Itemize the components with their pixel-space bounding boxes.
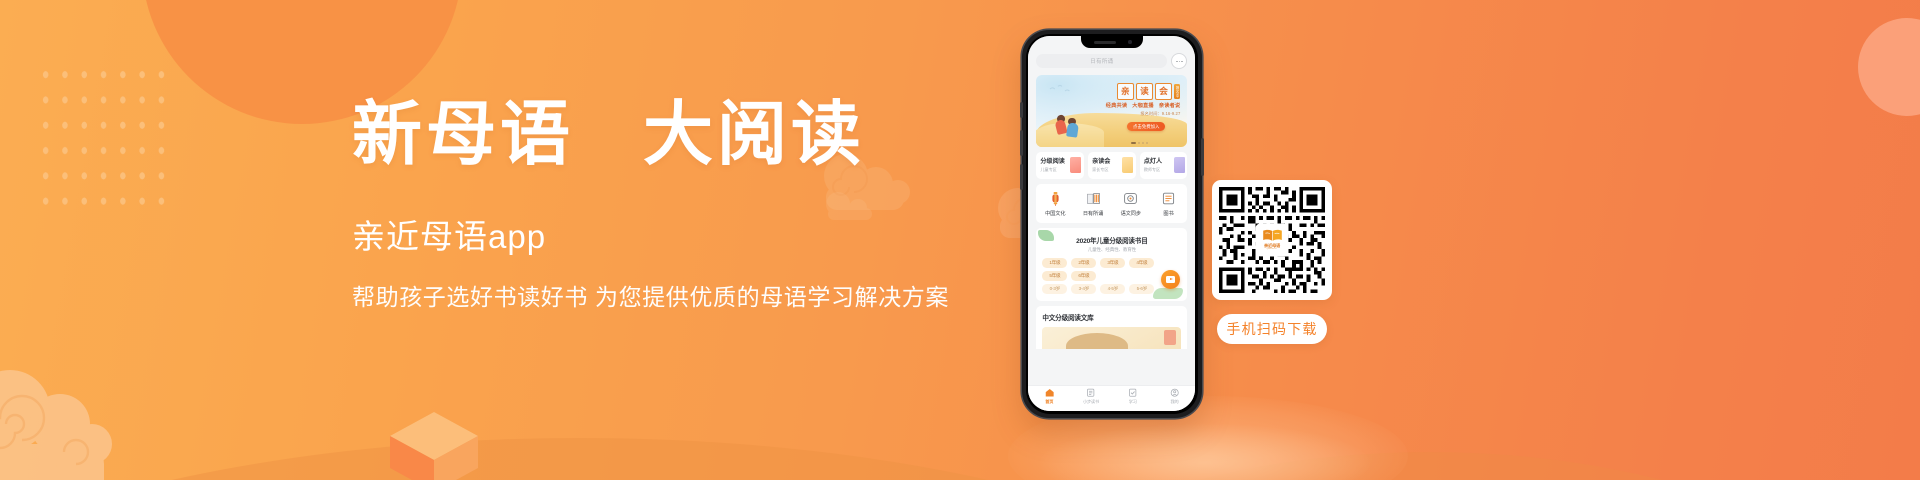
booklist-subtitle: 儿童性、经典性、教育性 <box>1042 247 1181 253</box>
phone-bezel: 日有所诵 <box>1026 34 1198 414</box>
tab-label: 我的 <box>1171 399 1179 405</box>
hero-feature-3: 亲读者说 <box>1159 102 1181 109</box>
leaf-decor-icon <box>1038 230 1054 241</box>
quick-link-chinese-culture[interactable]: 中国文化 <box>1036 191 1074 216</box>
speaker-grille <box>1094 41 1116 44</box>
decor-phone-glow-inner <box>1040 424 1370 480</box>
decor-hill-arc <box>0 438 1380 480</box>
tagline: 帮助孩子选好书读好书 为您提供优质的母语学习解决方案 <box>352 282 1032 312</box>
book-lines-icon <box>1161 191 1176 206</box>
camera-square-icon <box>1123 191 1138 206</box>
hero-join-button[interactable]: 点击免费加入 <box>1127 122 1165 131</box>
hero-carousel-banner[interactable]: 亲 读 会 报名中 经典共读 大咖直播 亲读者说 报名时间：9.16-9.27 … <box>1036 75 1187 147</box>
tab-reading[interactable]: 小步读书 <box>1070 388 1112 405</box>
hero-signup-date: 报名时间：9.16-9.27 <box>1140 111 1180 117</box>
qr-logo-title: 亲近母语 <box>1264 243 1280 248</box>
grade-tag[interactable]: 4年级 <box>1129 258 1154 268</box>
grade-tag[interactable]: 5年级 <box>1042 271 1067 281</box>
grade-tag[interactable]: 6年级 <box>1071 271 1096 281</box>
app-name-subtitle: 亲近母语app <box>352 218 1032 256</box>
quick-link-label: 语文同步 <box>1121 210 1141 217</box>
qr-card[interactable]: 亲近母语 QINJIN MUYU <box>1212 180 1332 300</box>
profile-icon <box>1170 388 1179 397</box>
book-tab-icon <box>1086 388 1095 397</box>
hero-features: 经典共读 大咖直播 亲读者说 <box>1106 102 1181 109</box>
library-section[interactable]: 中文分级阅读文库 <box>1036 306 1187 349</box>
booklist-title: 2020年儿童分级阅读书目 <box>1042 235 1181 245</box>
phone-power-button <box>1201 138 1203 176</box>
tab-label: 首页 <box>1045 399 1053 405</box>
age-tag[interactable]: 0-3岁 <box>1042 284 1067 294</box>
entry-card-teacher-zone[interactable]: 点灯人 教师专区 <box>1140 152 1188 179</box>
hero-char-3: 会 <box>1155 83 1172 100</box>
phone-screen: 日有所诵 <box>1028 36 1195 411</box>
phone-mockup: 日有所诵 <box>1022 30 1202 418</box>
open-book-logo-icon <box>1262 229 1283 242</box>
qr-download-block: 亲近母语 QINJIN MUYU 手机扫码下载 <box>1212 180 1332 344</box>
decor-hill-arc-secondary <box>880 452 1920 480</box>
carousel-dot-4[interactable] <box>1146 142 1148 144</box>
home-icon <box>1045 388 1054 397</box>
hero-char-2: 读 <box>1136 83 1153 100</box>
hero-vertical-badge: 报名中 <box>1174 84 1180 99</box>
quick-link-books[interactable]: 图书 <box>1150 191 1188 216</box>
decor-isometric-cube-icon <box>388 410 480 480</box>
entry-card-parent-club[interactable]: 亲读会 家长专区 <box>1088 152 1136 179</box>
title-part-2: 大阅读 <box>643 97 865 174</box>
qr-logo-subtitle: QINJIN MUYU <box>1267 248 1277 250</box>
library-page-decor <box>1164 330 1176 345</box>
app-viewport: 日有所诵 <box>1028 36 1195 411</box>
grade-tag[interactable]: 3年级 <box>1100 258 1125 268</box>
search-input[interactable]: 日有所诵 <box>1036 54 1167 68</box>
decor-circle-right <box>1858 18 1920 116</box>
library-cover-card[interactable] <box>1042 327 1181 349</box>
search-placeholder: 日有所诵 <box>1090 57 1113 65</box>
hero-title: 亲 读 会 报名中 <box>1117 83 1180 100</box>
hero-char-1: 亲 <box>1117 83 1134 100</box>
tab-profile[interactable]: 我的 <box>1154 388 1196 405</box>
grade-tag[interactable]: 1年级 <box>1042 258 1067 268</box>
scan-to-download-button[interactable]: 手机扫码下载 <box>1217 314 1327 344</box>
quick-link-label: 中国文化 <box>1045 210 1065 217</box>
tab-home[interactable]: 首页 <box>1028 388 1070 405</box>
promo-banner: 新母语 大阅读 亲近母语app 帮助孩子选好书读好书 为您提供优质的母语学习解决… <box>0 0 1920 480</box>
hero-feature-2: 大咖直播 <box>1132 102 1154 109</box>
entry-cards-row: 分级阅读 儿童专区 亲读会 家长专区 点灯人 教师专区 <box>1028 147 1195 179</box>
more-dots-icon[interactable] <box>1171 53 1187 69</box>
age-tag[interactable]: 5-6岁 <box>1129 284 1154 294</box>
page-title: 新母语 大阅读 <box>352 96 1032 176</box>
bookmark-red-icon <box>1070 157 1081 173</box>
booklist-section[interactable]: 2020年儿童分级阅读书目 儿童性、经典性、教育性 1年级 2年级 3年级 4年… <box>1036 228 1187 301</box>
carousel-dot-2[interactable] <box>1138 142 1140 144</box>
phone-volume-down-button <box>1020 164 1022 190</box>
title-part-1: 新母语 <box>352 97 574 174</box>
open-book-icon <box>1086 191 1101 206</box>
phone-notch <box>1081 36 1143 48</box>
carousel-indicator[interactable] <box>1131 142 1149 144</box>
carousel-dot-3[interactable] <box>1142 142 1144 144</box>
bookmark-yellow-icon <box>1122 157 1133 173</box>
library-title: 中文分级阅读文库 <box>1042 312 1181 322</box>
qr-center-logo: 亲近母语 QINJIN MUYU <box>1257 225 1287 255</box>
quick-link-label: 日有所诵 <box>1083 210 1103 217</box>
quick-links-grid: 中国文化 日有所诵 <box>1036 184 1187 222</box>
tab-study[interactable]: 学习 <box>1112 388 1154 405</box>
quick-link-label: 图书 <box>1163 210 1173 217</box>
checklist-icon <box>1128 388 1137 397</box>
decor-dot-grid <box>34 60 174 212</box>
home-indicator <box>1084 405 1140 408</box>
hero-feature-1: 经典共读 <box>1106 102 1128 109</box>
grade-tags-group: 1年级 2年级 3年级 4年级 5年级 6年级 <box>1042 258 1154 281</box>
carousel-dot-1[interactable] <box>1131 142 1136 144</box>
phone-volume-up-button <box>1020 130 1022 156</box>
lantern-icon <box>1048 191 1063 206</box>
copy-block: 新母语 大阅读 亲近母语app 帮助孩子选好书读好书 为您提供优质的母语学习解决… <box>352 96 1032 312</box>
age-tag[interactable]: 4-5岁 <box>1100 284 1125 294</box>
grade-tag[interactable]: 2年级 <box>1071 258 1096 268</box>
entry-card-graded-reading[interactable]: 分级阅读 儿童专区 <box>1036 152 1084 179</box>
bookmark-purple-icon <box>1174 157 1185 173</box>
age-tag[interactable]: 3-4岁 <box>1071 284 1096 294</box>
leaf-decor-icon-2 <box>1153 288 1183 299</box>
quick-link-textbook-sync[interactable]: 语文同步 <box>1112 191 1150 216</box>
front-camera-icon <box>1128 40 1132 44</box>
quick-link-daily-recitation[interactable]: 日有所诵 <box>1074 191 1112 216</box>
decor-auspicious-cloud-icon <box>0 352 184 480</box>
birds-icon <box>1048 84 1076 96</box>
library-arc-decor <box>1066 333 1128 349</box>
phone-mute-switch <box>1020 102 1022 118</box>
